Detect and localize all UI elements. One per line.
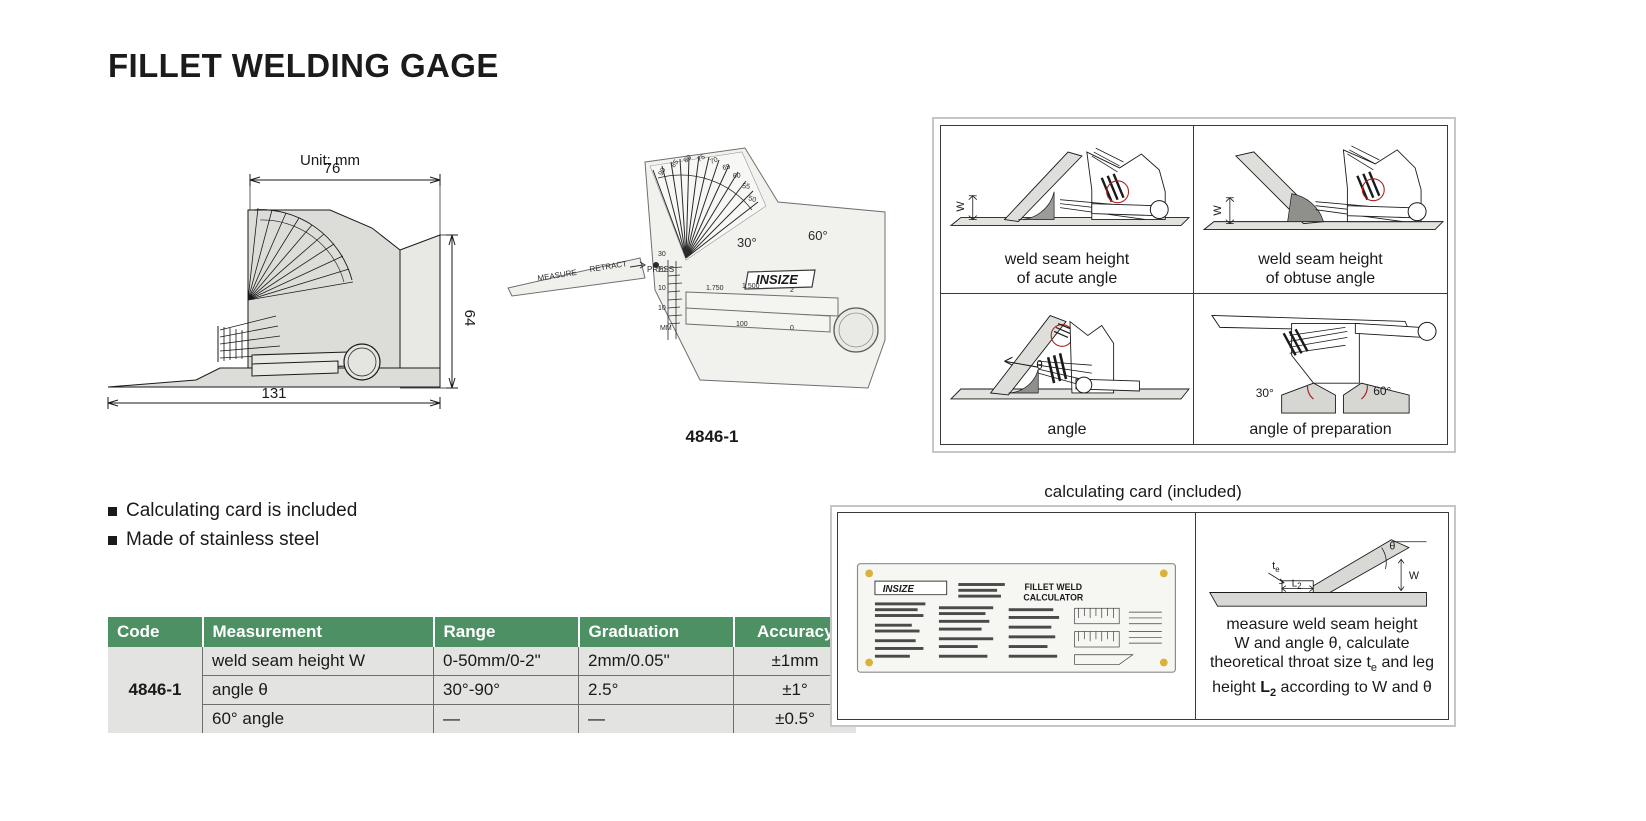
label-throat-te: te [1272, 560, 1279, 574]
datasheet-page: FILLET WELDING GAGE Unit: mm 76 [0, 0, 1646, 821]
calculating-card-panel: INSIZE FILLET WELD CALCULATOR [830, 505, 1456, 727]
column-header-code: Code [108, 617, 203, 647]
cell-range: 0-50mm/0-2" [434, 647, 579, 676]
cell-measurement: angle θ [203, 676, 434, 705]
svg-text:2: 2 [790, 287, 794, 294]
svg-text:100: 100 [736, 321, 748, 328]
cell-range: — [434, 705, 579, 734]
svg-text:60: 60 [733, 172, 741, 180]
svg-text:0: 0 [790, 325, 794, 332]
figure-angle: θ [943, 298, 1191, 420]
specification-table: Code Measurement Range Graduation Accura… [108, 617, 856, 733]
feature-item: Made of stainless steel [108, 527, 357, 552]
table-row: 60° angle — — ±0.5° [108, 705, 856, 734]
desc-line-3: theoretical throat size te and leg [1210, 653, 1434, 678]
feature-list: Calculating card is included Made of sta… [108, 498, 357, 556]
marker-label-theta: θ [1036, 358, 1043, 372]
table-row: angle θ 30°-90° 2.5° ±1° [108, 676, 856, 705]
dimension-label-131: 131 [261, 385, 286, 402]
dimension-label-76: 76 [324, 160, 341, 177]
feature-item: Calculating card is included [108, 498, 357, 523]
photo-scale-label-60: 60° [808, 228, 828, 243]
table-header-row: Code Measurement Range Graduation Accura… [108, 617, 856, 647]
card-brand-logo: INSIZE [875, 581, 947, 595]
application-caption: weld seam height of acute angle [1005, 250, 1130, 291]
figure-angle-preparation: 30° 60° [1196, 298, 1445, 420]
calculating-card-diagram-cell: te L2 W θ [1196, 513, 1448, 719]
card-title-line2: CALCULATOR [1023, 592, 1083, 602]
bullet-square-icon [108, 507, 117, 516]
application-panel: W weld seam height of acute angle [932, 117, 1456, 453]
cell-range: 30°-90° [434, 676, 579, 705]
bullet-square-icon [108, 536, 117, 545]
angle-label-60: 60° [1373, 384, 1391, 398]
angle-label-30: 30° [1256, 386, 1274, 400]
label-mm: MM [660, 325, 672, 332]
label-angle-theta: θ [1389, 540, 1395, 552]
svg-text:1.500: 1.500 [742, 283, 760, 290]
application-grid: W weld seam height of acute angle [940, 125, 1448, 445]
calculating-card-description: measure weld seam height W and angle θ, … [1210, 615, 1434, 703]
brand-label: INSIZE [756, 272, 798, 287]
calculating-card-image: INSIZE FILLET WELD CALCULATOR [842, 517, 1191, 715]
table-row: 4846-1 weld seam height W 0-50mm/0-2" 2m… [108, 647, 856, 676]
column-header-measurement: Measurement [203, 617, 434, 647]
figure-throat-leg: te L2 W θ [1200, 529, 1444, 615]
feature-label: Calculating card is included [126, 498, 357, 523]
cell-measurement: weld seam height W [203, 647, 434, 676]
product-photo: 90 85 80 75 70 65 60 55 50 30° 60° INSIZ… [490, 140, 910, 410]
dimensional-drawing: 76 64 131 [100, 140, 520, 430]
application-cell-angle: θ angle [941, 294, 1194, 444]
marker-label-w: W [1212, 205, 1224, 216]
cell-graduation: 2.5° [579, 676, 734, 705]
desc-line-4: height L2 according to W and θ [1210, 678, 1434, 703]
cell-graduation: — [579, 705, 734, 734]
photo-scale-label-30: 30° [737, 235, 757, 250]
card-brand-label: INSIZE [883, 584, 915, 595]
calculating-card-grid: INSIZE FILLET WELD CALCULATOR [837, 512, 1449, 720]
column-header-range: Range [434, 617, 579, 647]
card-title-line1: FILLET WELD [1024, 582, 1082, 592]
calculating-card-image-cell: INSIZE FILLET WELD CALCULATOR [838, 513, 1196, 719]
application-cell-angle-preparation: 30° 60° angle of preparation [1194, 294, 1447, 444]
cell-measurement: 60° angle [203, 705, 434, 734]
svg-text:30: 30 [658, 251, 666, 258]
application-caption: weld seam height of obtuse angle [1258, 250, 1383, 291]
svg-text:1.750: 1.750 [706, 285, 724, 292]
svg-text:55: 55 [742, 183, 751, 191]
application-caption: angle [1047, 420, 1086, 442]
application-cell-acute-angle: W weld seam height of acute angle [941, 126, 1194, 294]
cell-code: 4846-1 [108, 647, 203, 733]
application-cell-obtuse-angle: W weld seam height of obtuse angle [1194, 126, 1447, 294]
figure-acute-angle: W [943, 130, 1191, 250]
label-height-w: W [1409, 570, 1420, 582]
svg-text:20: 20 [658, 267, 666, 274]
page-title: FILLET WELDING GAGE [108, 47, 499, 85]
cell-graduation: 2mm/0.05" [579, 647, 734, 676]
model-number-caption: 4846-1 [612, 427, 812, 447]
svg-text:10: 10 [658, 285, 666, 292]
svg-text:10: 10 [658, 305, 666, 312]
application-caption: angle of preparation [1249, 420, 1391, 442]
feature-label: Made of stainless steel [126, 527, 319, 552]
calculating-card-caption: calculating card (included) [830, 482, 1456, 502]
dimension-label-64: 64 [461, 310, 478, 327]
figure-obtuse-angle: W [1196, 130, 1445, 250]
marker-label-w: W [955, 201, 967, 212]
column-header-graduation: Graduation [579, 617, 734, 647]
